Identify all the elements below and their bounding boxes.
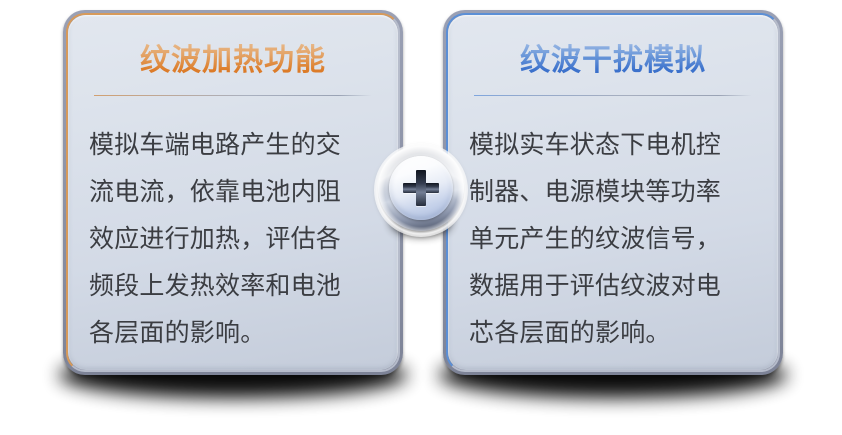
card-text-line: 频段上发热效率和电池 [89, 263, 377, 310]
plus-button-inner-disc [389, 156, 453, 220]
card-divider-left [94, 95, 372, 96]
card-text-line: 模拟车端电路产生的交 [89, 122, 377, 169]
card-text-line: 模拟实车状态下电机控 [469, 122, 757, 169]
card-title-left: 纹波加热功能 [140, 43, 326, 79]
card-ripple-interference[interactable]: 纹波干扰模拟 模拟实车状态下电机控 制器、电源模块等功率 单元产生的纹波信号， … [443, 10, 783, 375]
card-title-right: 纹波干扰模拟 [520, 43, 706, 79]
plus-icon [403, 170, 439, 206]
card-text-left: 模拟车端电路产生的交 流电流，依靠电池内阻 效应进行加热，评估各 频段上发热效率… [89, 122, 377, 357]
card-body-right: 纹波干扰模拟 模拟实车状态下电机控 制器、电源模块等功率 单元产生的纹波信号， … [448, 15, 778, 370]
card-text-line: 各层面的影响。 [89, 310, 377, 357]
card-text-line: 数据用于评估纹波对电 [469, 263, 757, 310]
card-text-line: 流电流，依靠电池内阻 [89, 169, 377, 216]
card-text-line: 单元产生的纹波信号， [469, 216, 757, 263]
card-text-line: 芯各层面的影响。 [469, 310, 757, 357]
card-body-left: 纹波加热功能 模拟车端电路产生的交 流电流，依靠电池内阻 效应进行加热，评估各 … [68, 15, 398, 370]
card-text-line: 效应进行加热，评估各 [89, 216, 377, 263]
card-ripple-heating[interactable]: 纹波加热功能 模拟车端电路产生的交 流电流，依靠电池内阻 效应进行加热，评估各 … [63, 10, 403, 375]
slide-canvas: 纹波加热功能 模拟车端电路产生的交 流电流，依靠电池内阻 效应进行加热，评估各 … [0, 0, 842, 435]
card-divider-right [474, 95, 752, 96]
plus-icon-bar-vertical [416, 170, 426, 206]
plus-button[interactable] [378, 145, 464, 239]
card-text-right: 模拟实车状态下电机控 制器、电源模块等功率 单元产生的纹波信号， 数据用于评估纹… [469, 122, 757, 357]
card-text-line: 制器、电源模块等功率 [469, 169, 757, 216]
